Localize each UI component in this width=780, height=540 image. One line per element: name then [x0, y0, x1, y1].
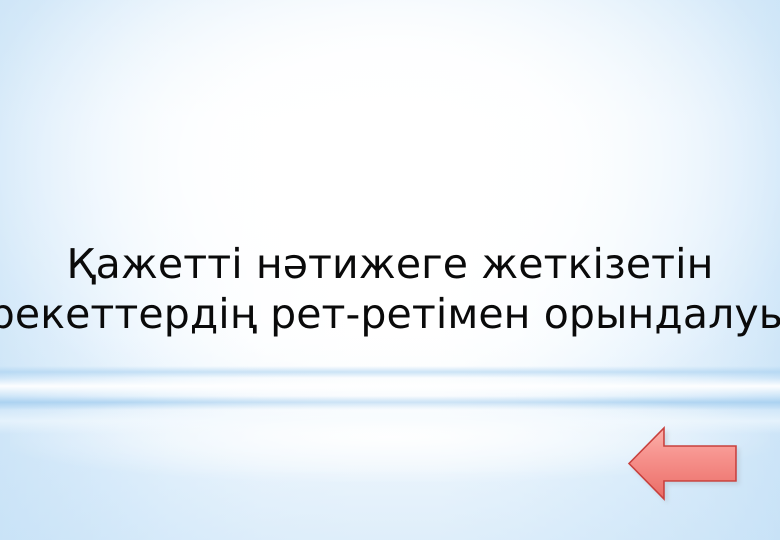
arrow-left-icon[interactable] [626, 422, 744, 508]
slide-title-line-1: Қажетті нәтижеге жеткізетін [0, 239, 780, 289]
slide-title-line-2: рекеттердің рет-ретімен орындалуы [0, 289, 780, 339]
arrow-left-shape [629, 428, 736, 499]
background-band-upper [0, 366, 780, 378]
presentation-slide: Қажетті нәтижеге жеткізетін рекеттердің … [0, 0, 780, 540]
slide-title: Қажетті нәтижеге жеткізетін рекеттердің … [0, 239, 780, 339]
